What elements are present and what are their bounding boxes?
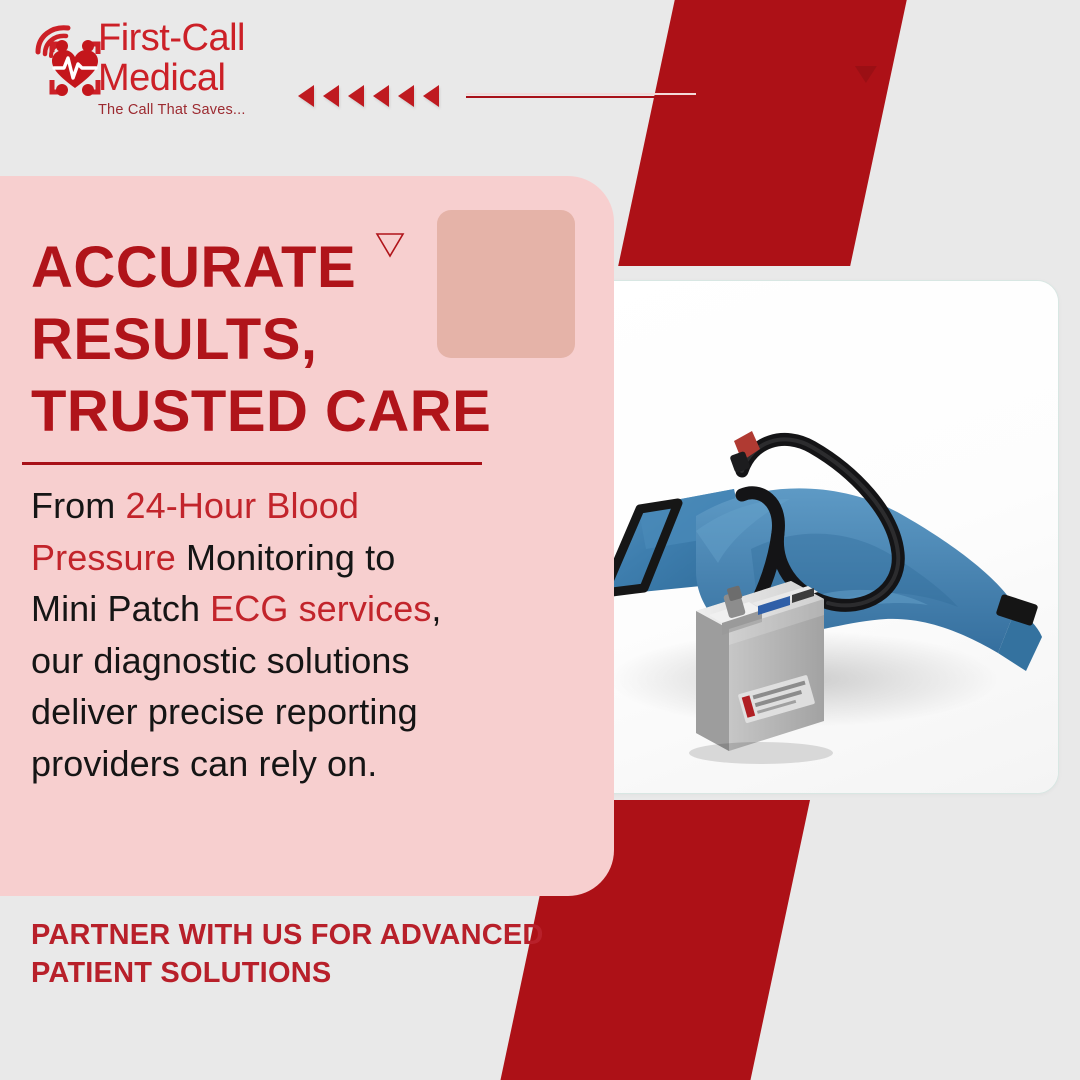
header-divider-rule-highlight xyxy=(466,93,696,95)
product-photo-card xyxy=(545,280,1059,794)
triangle-outline-accent xyxy=(375,210,403,232)
cta-line-2: PATIENT SOLUTIONS xyxy=(31,954,571,992)
headline-line-3: TRUSTED CARE xyxy=(31,376,551,448)
body-copy-accent-segment: 24-Hour xyxy=(126,485,257,526)
chevron-left-icon xyxy=(373,85,389,107)
headline-line-1: ACCURATE xyxy=(31,232,551,304)
chevron-left-icon xyxy=(323,85,339,107)
body-copy-segment: From xyxy=(31,485,126,526)
brand-wordmark: First-Call Medical The Call That Saves..… xyxy=(98,18,313,118)
body-copy: From 24-Hour Blood Pressure Monitoring t… xyxy=(31,480,451,789)
chevron-left-arrow-row xyxy=(298,85,439,107)
brand-tagline: The Call That Saves... xyxy=(98,102,313,118)
triangle-down-icon xyxy=(855,66,877,83)
body-copy-accent-segment: ECG services xyxy=(210,588,431,629)
header-divider-rule xyxy=(466,96,696,98)
chevron-left-icon xyxy=(398,85,414,107)
red-diagonal-stripe-top xyxy=(618,0,908,266)
headline-underline-rule xyxy=(22,462,482,465)
chevron-left-icon xyxy=(298,85,314,107)
page-title: ACCURATE RESULTS, TRUSTED CARE xyxy=(31,232,551,448)
poster-canvas: First-Call Medical The Call That Saves..… xyxy=(0,0,1080,1080)
chevron-left-icon xyxy=(423,85,439,107)
brand-name-line1: First-Call xyxy=(98,18,313,58)
call-to-action-text: PARTNER WITH US FOR ADVANCED PATIENT SOL… xyxy=(31,916,571,992)
brand-name-line2: Medical xyxy=(98,58,313,98)
heart-ecg-signal-logo-icon xyxy=(30,22,108,110)
cta-line-1: PARTNER WITH US FOR ADVANCED xyxy=(31,916,571,954)
headline-line-2: RESULTS, xyxy=(31,304,551,376)
body-copy-segment xyxy=(256,485,266,526)
brand-logo[interactable]: First-Call Medical The Call That Saves..… xyxy=(30,18,310,128)
chevron-left-icon xyxy=(348,85,364,107)
blood-pressure-monitor-image xyxy=(546,281,1058,793)
